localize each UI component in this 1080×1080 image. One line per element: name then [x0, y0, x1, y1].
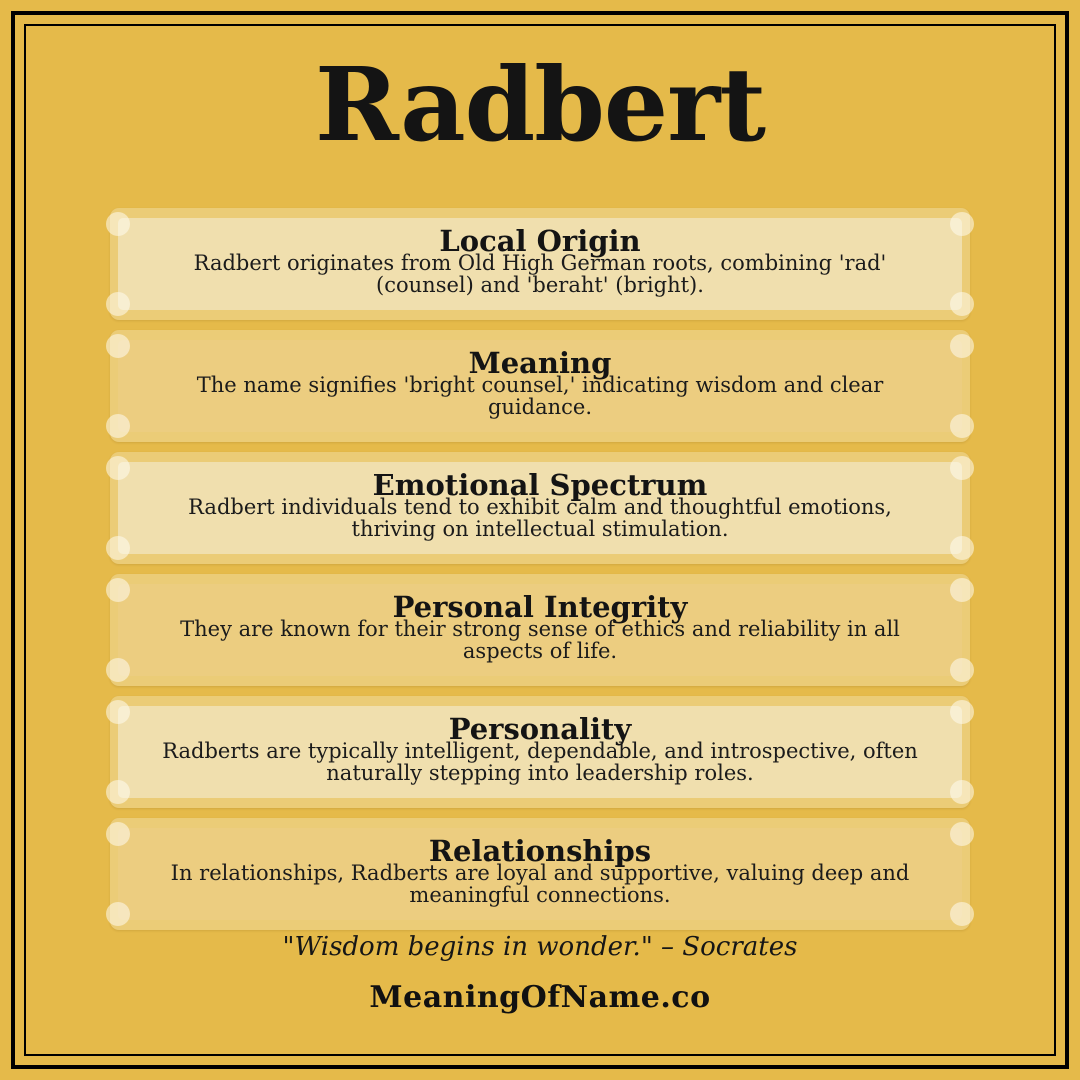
- section-card-panel: Local OriginRadbert originates from Old …: [118, 218, 962, 310]
- footer-quote: "Wisdom begins in wonder." – Socrates: [30, 930, 1050, 964]
- section-card: Personal IntegrityThey are known for the…: [110, 574, 970, 686]
- card-corner-peg-icon: [106, 414, 130, 438]
- card-corner-peg-icon: [950, 658, 974, 682]
- card-corner-peg-icon: [950, 414, 974, 438]
- section-card-panel: MeaningThe name signifies 'bright counse…: [118, 340, 962, 432]
- section-card-panel: Emotional SpectrumRadbert individuals te…: [118, 462, 962, 554]
- card-corner-peg-icon: [950, 456, 974, 480]
- card-corner-peg-icon: [950, 536, 974, 560]
- name-meaning-poster: Radbert Local OriginRadbert originates f…: [0, 0, 1080, 1080]
- section-card-panel: PersonalityRadberts are typically intell…: [118, 706, 962, 798]
- card-corner-peg-icon: [106, 700, 130, 724]
- card-corner-peg-icon: [106, 822, 130, 846]
- section-body-text: Radberts are typically intelligent, depe…: [140, 740, 940, 784]
- card-corner-peg-icon: [106, 536, 130, 560]
- card-corner-peg-icon: [950, 700, 974, 724]
- section-card-panel: Personal IntegrityThey are known for the…: [118, 584, 962, 676]
- card-corner-peg-icon: [950, 902, 974, 926]
- section-body-text: The name signifies 'bright counsel,' ind…: [140, 374, 940, 418]
- card-corner-peg-icon: [106, 292, 130, 316]
- section-body-text: Radbert individuals tend to exhibit calm…: [140, 496, 940, 540]
- card-corner-peg-icon: [950, 292, 974, 316]
- card-corner-peg-icon: [950, 334, 974, 358]
- section-body-text: Radbert originates from Old High German …: [140, 252, 940, 296]
- card-corner-peg-icon: [106, 334, 130, 358]
- section-card: MeaningThe name signifies 'bright counse…: [110, 330, 970, 442]
- card-corner-peg-icon: [106, 902, 130, 926]
- section-body-text: They are known for their strong sense of…: [140, 618, 940, 662]
- section-card: Local OriginRadbert originates from Old …: [110, 208, 970, 320]
- poster-footer: "Wisdom begins in wonder." – Socrates Me…: [30, 930, 1050, 1018]
- section-card-list: Local OriginRadbert originates from Old …: [110, 208, 970, 940]
- card-corner-peg-icon: [106, 658, 130, 682]
- card-corner-peg-icon: [950, 212, 974, 236]
- card-corner-peg-icon: [106, 578, 130, 602]
- section-card: PersonalityRadberts are typically intell…: [110, 696, 970, 808]
- poster-content: Radbert Local OriginRadbert originates f…: [30, 30, 1050, 1050]
- card-corner-peg-icon: [950, 578, 974, 602]
- section-card-panel: RelationshipsIn relationships, Radberts …: [118, 828, 962, 920]
- page-title: Radbert: [30, 30, 1050, 162]
- card-corner-peg-icon: [106, 456, 130, 480]
- card-corner-peg-icon: [950, 822, 974, 846]
- card-corner-peg-icon: [106, 212, 130, 236]
- footer-brand: MeaningOfName.co: [30, 964, 1050, 1018]
- card-corner-peg-icon: [950, 780, 974, 804]
- section-card: Emotional SpectrumRadbert individuals te…: [110, 452, 970, 564]
- card-corner-peg-icon: [106, 780, 130, 804]
- section-body-text: In relationships, Radberts are loyal and…: [140, 862, 940, 906]
- section-card: RelationshipsIn relationships, Radberts …: [110, 818, 970, 930]
